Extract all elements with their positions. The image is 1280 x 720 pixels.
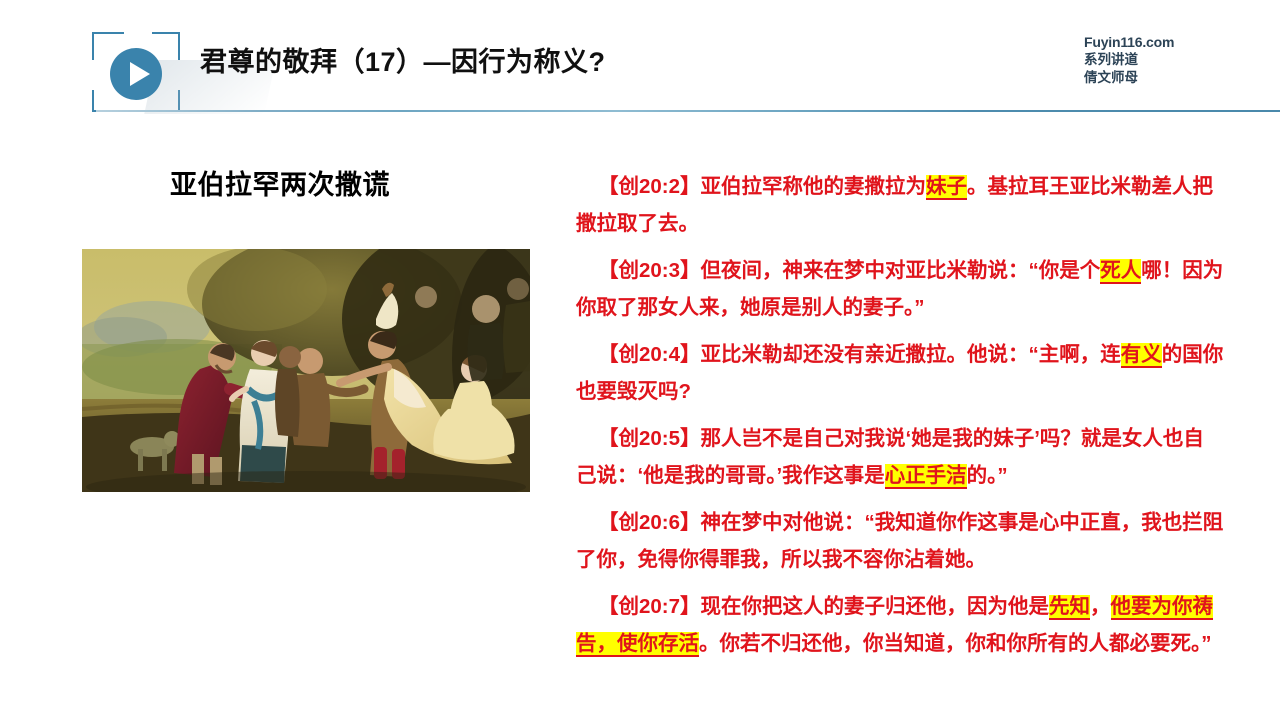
verse-reference: 【创20:6】	[598, 511, 701, 534]
verse-paragraph: 【创20:4】亚比米勒却还没有亲近撒拉。他说：“主啊，连有义的国你也要毁灭吗?	[576, 336, 1224, 410]
verse-text: 的。”	[967, 464, 1008, 487]
verse-text: 现在你把这人的妻子归还他，因为他是	[701, 595, 1050, 618]
verse-text: 但夜间，神来在梦中对亚比米勒说：“你是个	[701, 259, 1101, 282]
verse-paragraph: 【创20:6】神在梦中对他说：“我知道你作这事是心中正直，我也拦阻了你，免得你得…	[576, 504, 1224, 578]
verse-reference: 【创20:4】	[598, 343, 701, 366]
highlighted-text: 有义	[1121, 343, 1162, 368]
highlighted-text: 死人	[1100, 259, 1141, 284]
brand-block: Fuyin116.com 系列讲道 倩文师母	[1084, 33, 1264, 87]
verse-text: 亚伯拉罕称他的妻撒拉为	[701, 175, 927, 198]
verse-paragraph: 【创20:3】但夜间，神来在梦中对亚比米勒说：“你是个死人哪！因为你取了那女人来…	[576, 252, 1224, 326]
verse-reference: 【创20:2】	[598, 175, 701, 198]
painting-artwork	[82, 249, 530, 492]
verse-paragraph: 【创20:5】那人岂不是自己对我说‘她是我的妹子’吗？就是女人也自己说：‘他是我…	[576, 420, 1224, 494]
header-divider	[96, 110, 1280, 112]
play-button-icon[interactable]	[110, 48, 162, 100]
brand-series-label: 系列讲道	[1084, 51, 1264, 69]
brand-speaker-label: 倩文师母	[1084, 69, 1264, 87]
verse-paragraph: 【创20:7】现在你把这人的妻子归还他，因为他是先知，他要为你祷告，使你存活。你…	[576, 588, 1224, 662]
logo-frame-gap-top	[124, 31, 152, 35]
verse-paragraph: 【创20:2】亚伯拉罕称他的妻撒拉为妹子。基拉耳王亚比米勒差人把撒拉取了去。	[576, 168, 1224, 242]
play-triangle-icon	[130, 62, 150, 86]
verse-text: ，	[1090, 595, 1111, 618]
scripture-panel: 【创20:2】亚伯拉罕称他的妻撒拉为妹子。基拉耳王亚比米勒差人把撒拉取了去。【创…	[576, 168, 1224, 662]
section-heading: 亚伯拉罕两次撒谎	[170, 163, 390, 202]
slide-title: 君尊的敬拜（17）—因行为称义?	[200, 40, 606, 79]
slide-header: 君尊的敬拜（17）—因行为称义? Fuyin116.com 系列讲道 倩文师母	[0, 0, 1280, 122]
verse-text: 。你若不归还他，你当知道，你和你所有的人都必要死。”	[699, 632, 1212, 655]
highlighted-text: 妹子	[926, 175, 967, 200]
brand-site: Fuyin116.com	[1084, 33, 1264, 51]
highlighted-text: 先知	[1049, 595, 1090, 620]
verse-text: 亚比米勒却还没有亲近撒拉。他说：“主啊，连	[701, 343, 1121, 366]
highlighted-text: 心正手洁	[885, 464, 967, 489]
verse-reference: 【创20:5】	[598, 427, 701, 450]
verse-reference: 【创20:3】	[598, 259, 701, 282]
abraham-sarah-abimelech-painting	[82, 249, 530, 492]
verse-reference: 【创20:7】	[598, 595, 701, 618]
